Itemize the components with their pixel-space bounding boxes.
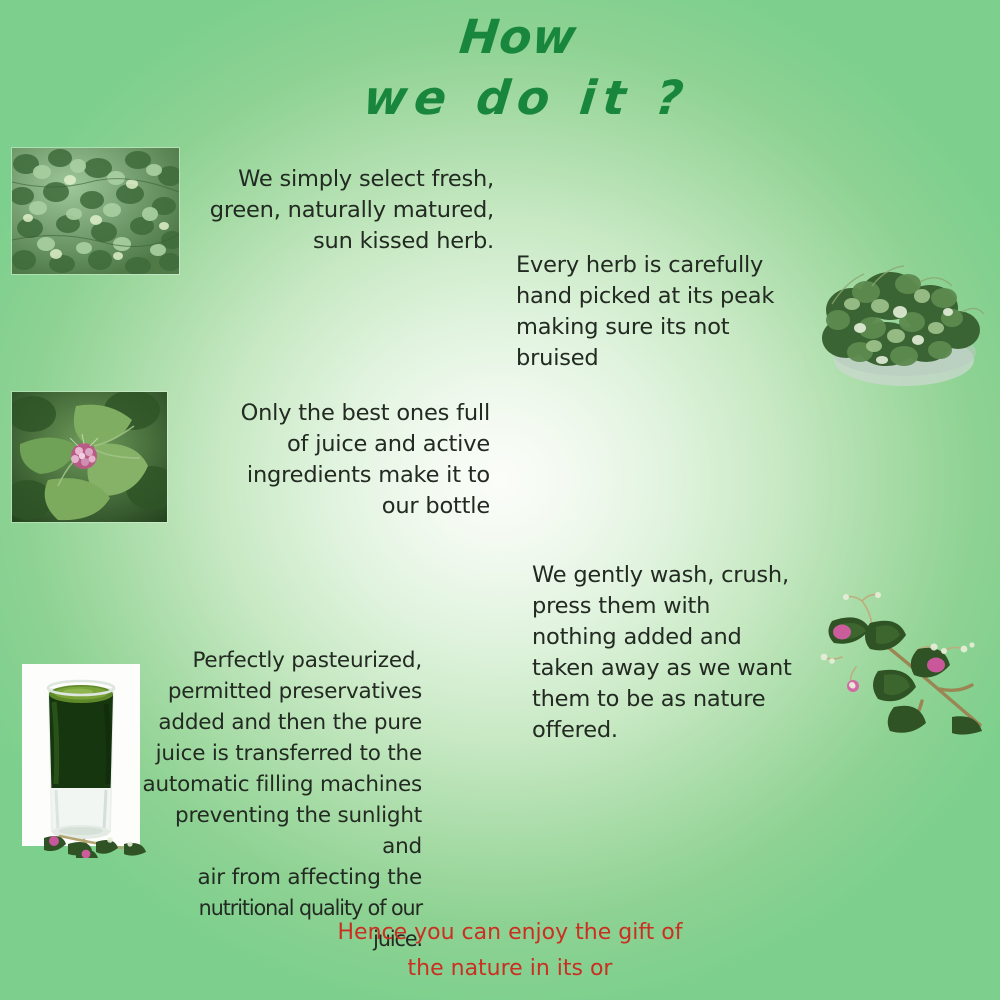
harvested-herbs-photo <box>812 252 990 390</box>
step-text-best-ones: Only the best ones full of juice and act… <box>190 398 490 522</box>
page-title: How we do it ? <box>0 14 1000 122</box>
herb-sprig-photo <box>812 585 988 737</box>
how-we-do-it-poster: How we do it ? <box>0 0 1000 1000</box>
step-text-pasteurized: Perfectly pasteurized, permitted preserv… <box>142 645 422 955</box>
step-text-pasteurized-main: Perfectly pasteurized, permitted preserv… <box>142 648 422 890</box>
step-text-select: We simply select fresh, green, naturally… <box>186 164 494 257</box>
page-title-line-2: we do it ? <box>52 75 1000 122</box>
page-title-line-1: How <box>34 14 1000 61</box>
juice-glass-photo <box>18 660 158 858</box>
herb-field-photo <box>12 148 179 274</box>
footer-tagline: Hence you can enjoy the gift of the natu… <box>300 915 720 987</box>
herb-flower-closeup-photo <box>12 392 167 522</box>
step-text-handpick: Every herb is carefully hand picked at i… <box>516 250 816 374</box>
step-text-wash-crush: We gently wash, crush, press them with n… <box>532 560 822 746</box>
